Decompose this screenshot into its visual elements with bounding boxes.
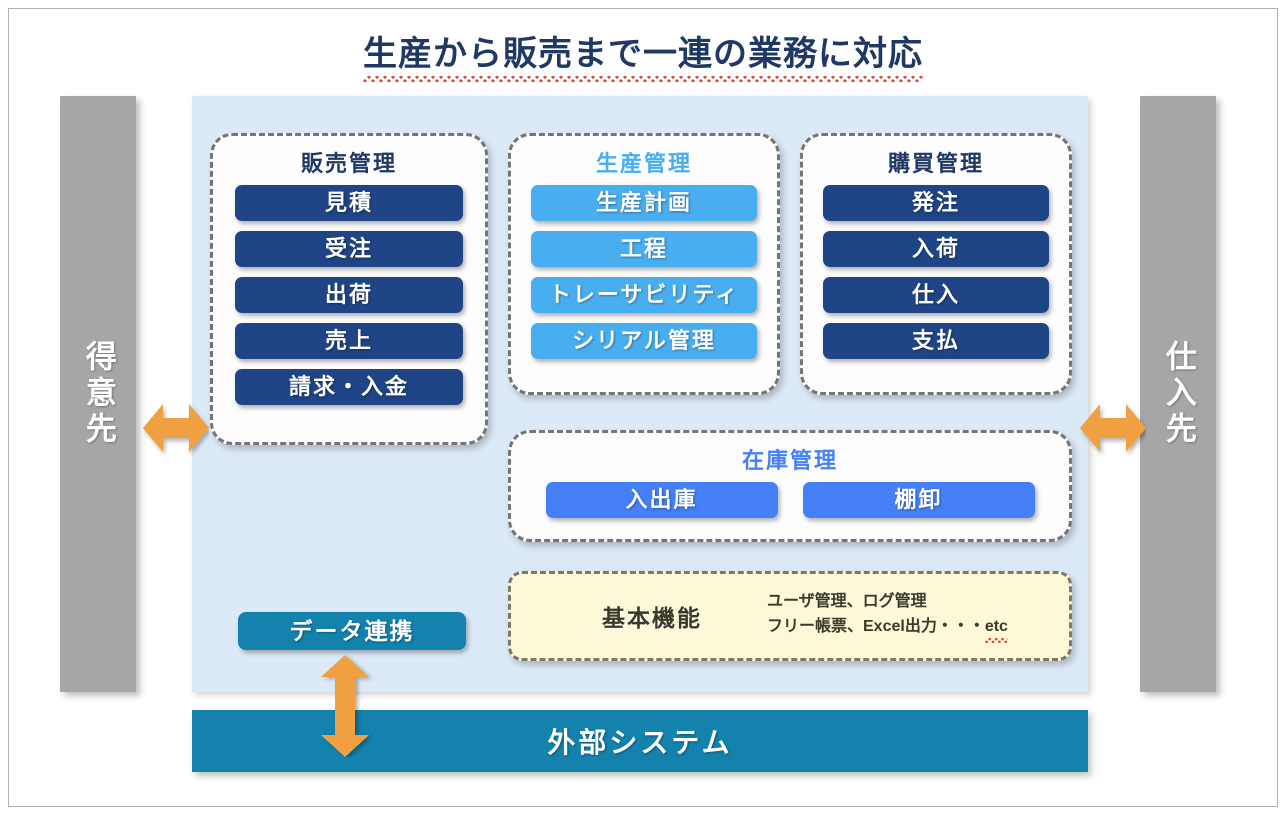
sales-item-quotation[interactable]: 見積 (235, 185, 463, 221)
inventory-item-warehousing[interactable]: 入出庫 (546, 482, 778, 518)
basic-functions-line-1: ユーザ管理、ログ管理 (767, 590, 1008, 615)
inventory-item-stocktaking[interactable]: 棚卸 (803, 482, 1035, 518)
purchasing-item-payment[interactable]: 支払 (823, 323, 1049, 359)
basic-functions-inner: 基本機能 ユーザ管理、ログ管理 フリー帳票、Excel出力・・・etc (511, 574, 1069, 658)
title-wavy-underline (363, 76, 923, 82)
data-linkage-button[interactable]: データ連携 (238, 612, 466, 650)
double-arrow-external-system-icon (314, 655, 376, 757)
page-title: 生産から販売まで一連の業務に対応 (363, 26, 923, 80)
module-production-title: 生産管理 (511, 146, 777, 178)
basic-functions-etc-text: etc (985, 618, 1008, 635)
sales-item-order-receipt[interactable]: 受注 (235, 231, 463, 267)
external-system-label: 外部システム (547, 721, 732, 761)
basic-functions-line-2: フリー帳票、Excel出力・・・etc (767, 615, 1008, 642)
module-basic-functions: 基本機能 ユーザ管理、ログ管理 フリー帳票、Excel出力・・・etc (508, 571, 1072, 661)
actor-customer-bar: 得意先 (60, 96, 136, 692)
double-arrow-customer-icon (143, 396, 209, 460)
purchasing-item-purchase[interactable]: 仕入 (823, 277, 1049, 313)
double-arrow-supplier-icon (1080, 396, 1146, 460)
production-item-plan[interactable]: 生産計画 (531, 185, 757, 221)
production-item-process[interactable]: 工程 (531, 231, 757, 267)
basic-functions-title: 基本機能 (537, 599, 767, 633)
diagram-canvas: 生産から販売まで一連の業務に対応 得意先 仕入先 販売管理 見積 受注 出荷 売… (0, 0, 1286, 815)
module-sales-management: 販売管理 見積 受注 出荷 売上 請求・入金 (210, 133, 488, 445)
purchasing-item-order-placement[interactable]: 発注 (823, 185, 1049, 221)
basic-functions-line-2-prefix: フリー帳票、Excel出力・・・ (767, 618, 985, 635)
module-purchasing-title: 購買管理 (803, 146, 1069, 178)
actor-customer-label: 得意先 (79, 340, 117, 448)
production-item-serial-management[interactable]: シリアル管理 (531, 323, 757, 359)
sales-item-billing-payment[interactable]: 請求・入金 (235, 369, 463, 405)
module-purchasing-management: 購買管理 発注 入荷 仕入 支払 (800, 133, 1072, 395)
sales-item-sales[interactable]: 売上 (235, 323, 463, 359)
module-sales-title: 販売管理 (213, 146, 485, 178)
basic-functions-description: ユーザ管理、ログ管理 フリー帳票、Excel出力・・・etc (767, 590, 1008, 642)
purchasing-item-goods-receipt[interactable]: 入荷 (823, 231, 1049, 267)
actor-supplier-label: 仕入先 (1159, 340, 1197, 448)
actor-supplier-bar: 仕入先 (1140, 96, 1216, 692)
sales-item-shipping[interactable]: 出荷 (235, 277, 463, 313)
page-title-text: 生産から販売まで一連の業務に対応 (363, 35, 923, 73)
page-title-container: 生産から販売まで一連の業務に対応 (0, 26, 1286, 80)
inventory-items-row: 入出庫 棚卸 (511, 482, 1069, 518)
production-item-traceability[interactable]: トレーサビリティ (531, 277, 757, 313)
module-production-management: 生産管理 生産計画 工程 トレーサビリティ シリアル管理 (508, 133, 780, 395)
basic-functions-etc: etc (985, 615, 1008, 642)
etc-wavy-underline (985, 638, 1008, 643)
module-inventory-title: 在庫管理 (511, 443, 1069, 475)
module-inventory-management: 在庫管理 入出庫 棚卸 (508, 430, 1072, 542)
